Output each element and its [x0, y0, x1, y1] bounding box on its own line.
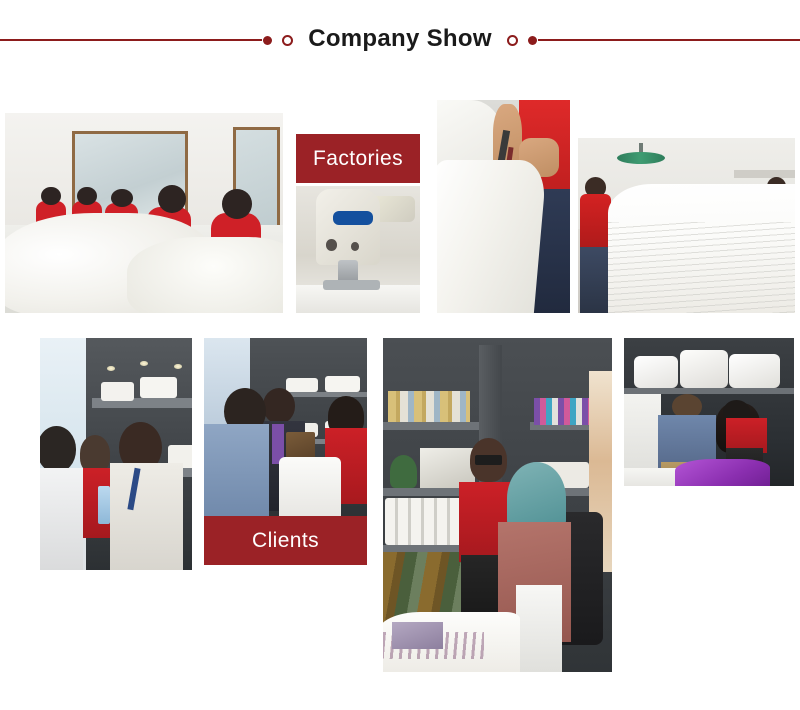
photo-layer-towel [140, 377, 176, 398]
photo-layer-worker-shirt [580, 194, 610, 250]
photo-layer-visitor-shirt [204, 424, 269, 518]
photo-layer-product-box [392, 622, 442, 649]
photo-layer-staff-head [80, 435, 110, 472]
photo-clients-booth [204, 338, 367, 518]
photo-layer-sheet-stripes [608, 222, 795, 313]
photo-layer-towel [325, 376, 361, 392]
photo-layer-worker-head [111, 189, 133, 207]
photo-layer-purple-fabric [675, 459, 770, 486]
filled-dot-icon-right [528, 36, 537, 45]
label-factories-text: Factories [313, 147, 403, 171]
hollow-dot-icon-right [507, 35, 518, 46]
photo-booth-customer [383, 338, 612, 672]
photo-showroom-pair [624, 338, 794, 486]
photo-layer-plant [390, 455, 417, 488]
company-show-page: Company Show Factories [0, 0, 800, 710]
photo-layer-white-sheet [437, 160, 548, 313]
photo-layer-client-shirt [110, 463, 183, 570]
photo-sewing-floor [5, 113, 283, 313]
photo-layer-hanging-covers [624, 394, 661, 480]
photo-layer-worker-head [41, 187, 60, 205]
section-header: Company Show [0, 0, 800, 72]
photo-layer-worker-jeans [580, 247, 608, 314]
eyeglasses-icon [475, 455, 502, 465]
photo-layer-needle-plate [323, 280, 380, 290]
photo-layer-knob [326, 239, 337, 250]
photo-layer-beam [734, 170, 795, 179]
photo-sewing-machine [296, 186, 420, 313]
photo-layer-pillow [634, 356, 678, 389]
photo-layer-shelf [383, 422, 479, 430]
label-clients: Clients [204, 516, 367, 565]
photo-layer-worker-head [77, 187, 96, 205]
photo-layer-water-bottle [98, 486, 110, 523]
photo-layer-shopping-bag [516, 585, 562, 672]
photo-layer-linen-2 [127, 237, 283, 313]
spotlight-icon [174, 364, 182, 369]
photo-layer-worker-head [158, 185, 186, 213]
photo-spreading-sheet [578, 138, 795, 313]
photo-layer-table [279, 457, 341, 518]
label-clients-text: Clients [252, 529, 319, 553]
photo-layer-machine-body [316, 189, 380, 265]
photo-cutting-fabric [437, 100, 570, 313]
spotlight-icon [107, 366, 115, 371]
photo-layer-towel [101, 382, 134, 401]
header-rule-right [538, 39, 800, 41]
photo-layer-towel [286, 378, 319, 392]
photo-layer-visitor-shirt [40, 468, 83, 570]
label-factories: Factories [296, 134, 420, 183]
photo-layer-pillow [729, 354, 780, 388]
photo-layer-pillow [680, 350, 728, 388]
photo-booth-meeting [40, 338, 192, 570]
photo-layer-packaging [388, 391, 470, 424]
photo-layer-knob [351, 242, 360, 251]
photo-layer-color-samples [534, 398, 589, 425]
photo-layer-brand-plate [333, 211, 373, 225]
